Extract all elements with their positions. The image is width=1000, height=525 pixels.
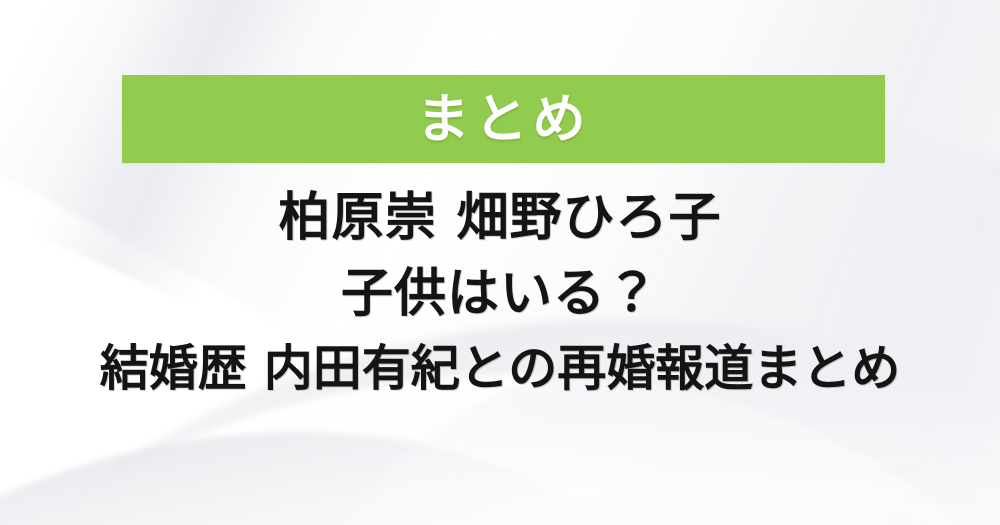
title-line-1: 柏原崇 畑野ひろ子 — [0, 192, 1000, 244]
title-line-3: 結婚歴 内田有紀との再婚報道まとめ — [0, 344, 1000, 393]
banner-label: まとめ — [417, 93, 591, 146]
title-line-2: 子供はいる？ — [0, 268, 1000, 320]
section-banner: まとめ — [122, 75, 885, 163]
thumbnail-canvas: まとめ 柏原崇 畑野ひろ子 子供はいる？ 結婚歴 内田有紀との再婚報道まとめ — [0, 0, 1000, 525]
page-title: 柏原崇 畑野ひろ子 子供はいる？ 結婚歴 内田有紀との再婚報道まとめ — [0, 192, 1000, 393]
